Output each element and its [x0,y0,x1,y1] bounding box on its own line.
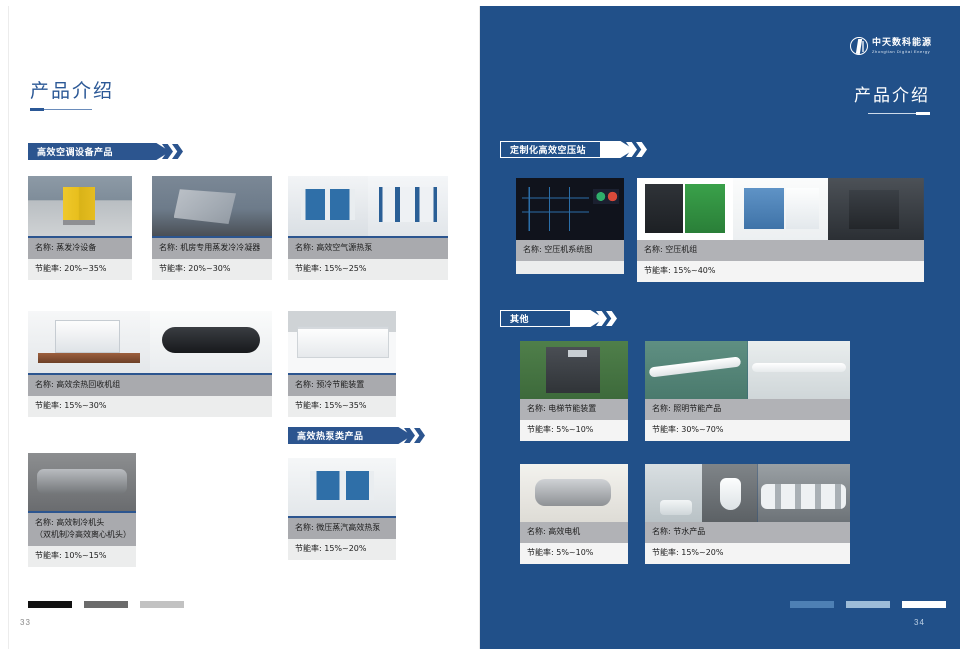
product-photos [152,176,272,236]
product-name: 名称: 高效余热回收机组 [35,379,265,391]
product-photo-pre-cooling-energy-saving-device [288,311,396,373]
section-banner-air-station-label: 定制化高效空压站 [510,143,586,156]
product-card[interactable]: 名称: 机房专用蒸发冷冷凝器 节能率: 20%~30% [152,176,272,280]
product-photo-air-compressor-dark [828,178,924,240]
product-photo-high-efficiency-chiller-head [28,453,136,511]
product-card[interactable]: 名称: 微压蒸汽高效热泵 节能率: 15%~20% [288,458,396,560]
product-name-row: 名称: 节水产品 [645,522,850,543]
product-rate-row-empty [516,261,624,274]
product-name: 名称: 预冷节能装置 [295,379,389,391]
product-rate: 节能率: 15%~35% [295,400,389,412]
product-photos [28,176,132,236]
banner-chevron-2 [172,144,183,159]
right-page-title: 产品介绍 [854,81,930,106]
product-photos [288,311,396,373]
product-rate-row: 节能率: 15%~30% [28,396,272,417]
product-rate: 节能率: 30%~70% [652,424,843,436]
section-banner-others: 其他 [500,310,610,327]
section-banner-heatpump: 高效热泵类产品 [288,427,420,444]
product-photos [637,178,924,240]
product-card[interactable]: 名称: 高效电机 节能率: 5%~10% [520,464,628,564]
section-banner-hvac: 高效空调设备产品 [28,143,178,160]
product-name-row: 名称: 照明节能产品 [645,399,850,420]
product-photo-air-compressor-system-diagram [516,178,624,240]
product-rate: 节能率: 15%~30% [35,400,265,412]
product-name-row: 名称: 高效余热回收机组 [28,375,272,396]
product-rate-row: 节能率: 20%~35% [28,259,132,280]
footer-bar-3 [902,601,946,608]
product-photos [645,464,850,522]
product-photo-water-saving-urinal [702,464,757,522]
footer-bar-2 [84,601,128,608]
footer-bar-2 [846,601,890,608]
product-rate: 节能率: 15%~40% [644,265,917,277]
section-banner-air-station: 定制化高效空压站 [500,141,640,158]
left-page-number: 33 [20,618,31,627]
product-rate: 节能率: 15%~20% [652,547,843,559]
product-card[interactable]: 名称: 空压机组 节能率: 15%~40% [637,178,924,282]
footer-bar-1 [28,601,72,608]
product-photo-heat-recovery-unit-2 [150,311,272,373]
product-name: 名称: 电梯节能装置 [527,403,621,415]
company-logo: 中天数科能源 Zhongtian Digital Energy [850,37,932,55]
product-name-row: 名称: 蒸发冷设备 [28,238,132,259]
product-rate-row: 节能率: 15%~20% [645,543,850,564]
product-rate-row: 节能率: 10%~15% [28,546,136,567]
product-photo-air-source-heat-pump-2 [368,176,448,236]
product-photo-water-saving-basin [645,464,702,522]
product-photo-water-saving-urinal-row [758,464,850,522]
product-rate-row: 节能率: 30%~70% [645,420,850,441]
product-photo-high-efficiency-motor [520,464,628,522]
product-name: 名称: 高效空气源热泵 [295,242,441,254]
product-card[interactable]: 名称: 高效空气源热泵 节能率: 15%~25% [288,176,448,280]
left-page: 产品介绍 高效空调设备产品 名称: 蒸发冷设备 节能率: 20%~35% [0,6,480,649]
product-rate: 节能率: 15%~25% [295,263,441,275]
section-banner-others-label: 其他 [510,312,529,325]
product-name-row: 名称: 机房专用蒸发冷冷凝器 [152,238,272,259]
brochure-spread: 产品介绍 高效空调设备产品 名称: 蒸发冷设备 节能率: 20%~35% [0,0,960,655]
left-page-title-rule-accent [30,108,44,111]
product-card[interactable]: 名称: 照明节能产品 节能率: 30%~70% [645,341,850,441]
product-name-row: 名称: 高效空气源热泵 [288,238,448,259]
product-photos [645,341,850,399]
product-card[interactable]: 名称: 节水产品 节能率: 15%~20% [645,464,850,564]
product-rate: 节能率: 15%~20% [295,543,389,555]
product-photo-air-compressor-blue [733,178,829,240]
product-card[interactable]: 名称: 电梯节能装置 节能率: 5%~10% [520,341,628,441]
right-footer-bars [790,601,946,608]
product-photos [288,458,396,516]
product-name-row: 名称: 空压机组 [637,240,924,261]
product-name-row: 名称: 电梯节能装置 [520,399,628,420]
product-name-secondary: （双机制冷高效离心机头） [35,529,129,541]
product-photo-led-tube-2 [748,341,851,399]
product-name-row: 名称: 预冷节能装置 [288,375,396,396]
product-name: 名称: 蒸发冷设备 [35,242,125,254]
product-rate: 节能率: 20%~35% [35,263,125,275]
product-card[interactable]: 名称: 高效余热回收机组 节能率: 15%~30% [28,311,272,417]
product-photo-led-tube-1 [645,341,748,399]
product-photos [288,176,448,236]
product-rate-row: 节能率: 5%~10% [520,420,628,441]
right-page: 中天数科能源 Zhongtian Digital Energy 产品介绍 定制化… [480,6,960,649]
product-name: 名称: 高效电机 [527,526,621,538]
product-photos [520,464,628,522]
product-card[interactable]: 名称: 预冷节能装置 节能率: 15%~35% [288,311,396,417]
product-rate-row: 节能率: 20%~30% [152,259,272,280]
product-name-row: 名称: 高效电机 [520,522,628,543]
right-page-number: 34 [914,618,925,627]
section-banner-hvac-label: 高效空调设备产品 [37,145,113,158]
product-name: 名称: 微压蒸汽高效热泵 [295,522,389,534]
product-name: 名称: 空压机组 [644,244,917,256]
product-name-row: 名称: 空压机系统图 [516,240,624,261]
product-rate: 节能率: 10%~15% [35,550,129,562]
product-name: 名称: 照明节能产品 [652,403,843,415]
product-rate-row: 节能率: 5%~10% [520,543,628,564]
product-name-row: 名称: 微压蒸汽高效热泵 [288,518,396,539]
product-photos [28,311,272,373]
banner-chevron-2 [636,142,647,157]
banner-chevron-2 [414,428,425,443]
product-rate: 节能率: 5%~10% [527,424,621,436]
product-photos [520,341,628,399]
product-photo-elevator-energy-saving-device [520,341,628,399]
product-photo-air-compressor-green [637,178,733,240]
product-card[interactable]: 名称: 高效制冷机头 （双机制冷高效离心机头） 节能率: 10%~15% [28,453,136,567]
logo-globe-icon [850,37,868,55]
product-name: 名称: 机房专用蒸发冷冷凝器 [159,242,265,254]
product-photo-evaporative-cooling-unit [28,176,132,236]
product-rate: 节能率: 5%~10% [527,547,621,559]
product-name: 名称: 高效制冷机头 [35,517,129,529]
product-rate-row: 节能率: 15%~40% [637,261,924,282]
product-name: 名称: 节水产品 [652,526,843,538]
product-photos [28,453,136,511]
product-name: 名称: 空压机系统图 [523,244,617,256]
product-rate: 节能率: 20%~30% [159,263,265,275]
footer-bar-3 [140,601,184,608]
right-page-title-rule-accent [916,112,930,115]
section-banner-heatpump-label: 高效热泵类产品 [297,429,364,442]
logo-name-cn: 中天数科能源 [872,39,932,48]
banner-chevron-2 [606,311,617,326]
left-page-title: 产品介绍 [30,76,114,103]
product-card[interactable]: 名称: 蒸发冷设备 节能率: 20%~35% [28,176,132,280]
product-rate-row: 节能率: 15%~25% [288,259,448,280]
left-footer-bars [28,601,184,608]
product-name-row: 名称: 高效制冷机头 （双机制冷高效离心机头） [28,513,136,546]
product-card[interactable]: 名称: 空压机系统图 [516,178,624,274]
product-rate-row: 节能率: 15%~35% [288,396,396,417]
footer-bar-1 [790,601,834,608]
product-photo-data-center-evaporative-condenser [152,176,272,236]
logo-name-en: Zhongtian Digital Energy [872,50,932,54]
product-photo-air-source-heat-pump-1 [288,176,368,236]
product-photos [516,178,624,240]
product-photo-heat-recovery-unit-1 [28,311,150,373]
product-photo-micro-pressure-steam-heat-pump [288,458,396,516]
product-rate-row: 节能率: 15%~20% [288,539,396,560]
